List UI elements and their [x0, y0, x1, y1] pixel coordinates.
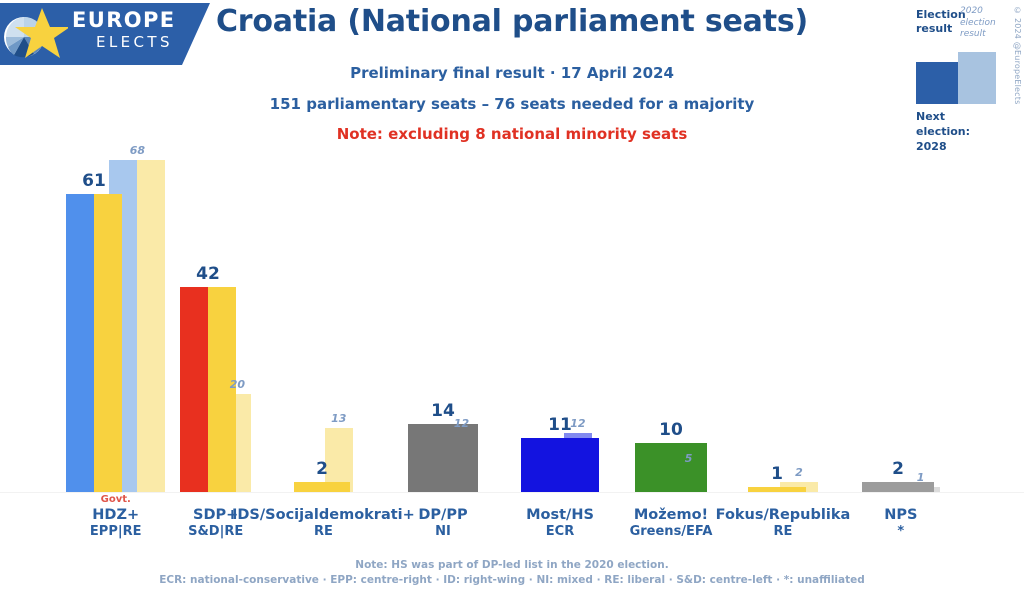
next-election-year: 2028	[916, 140, 947, 153]
legend-labels: Election result 2020 election result	[916, 6, 996, 52]
bar-chart-plot-area: 68612042132121412115102112	[0, 140, 1024, 492]
next-election-label: Next election:	[916, 110, 970, 138]
legend-current-swatch	[916, 62, 958, 104]
bar-previous-result	[137, 160, 165, 492]
chart-seats-line: 151 parliamentary seats – 76 seats neede…	[0, 95, 1024, 113]
brand-wordmark: EUROPE ELECTS	[72, 10, 176, 50]
copyright-notice: © 2024 @EuropeElects	[1013, 6, 1022, 104]
bar-value-label-current: 2	[862, 459, 934, 479]
bar-current-result	[521, 438, 599, 492]
bar-value-label-current: 42	[180, 264, 236, 284]
x-axis-labels: Govt.HDZ+EPP|RE SDP+S&D|RE IDS/Socijalde…	[0, 494, 1024, 556]
bar-current-result	[408, 424, 478, 492]
bar-value-label-current: 1	[748, 464, 806, 484]
bar-value-label-current: 10	[635, 420, 707, 440]
chart-legend: Election result 2020 election result Nex…	[916, 6, 996, 155]
bar-value-label-previous: 13	[325, 412, 353, 425]
brand-line-1: EUROPE	[72, 10, 176, 31]
bar-current-result	[635, 443, 707, 492]
bar-value-label-current: 61	[66, 171, 122, 191]
bar-current-result	[180, 287, 208, 492]
legend-swatches	[916, 52, 996, 104]
bar-group	[862, 140, 1024, 492]
legend-current-label: Election result	[916, 8, 960, 36]
party-eu-group: *	[781, 524, 1021, 541]
bar-value-label-previous: 68	[109, 144, 165, 157]
x-axis-label-8: NPS*	[781, 494, 1021, 541]
bar-value-label-previous: 5	[675, 452, 703, 465]
bar-value-label-current: 2	[294, 459, 350, 479]
legend-previous-swatch	[958, 52, 996, 104]
bar-current-result	[294, 482, 350, 492]
bar-value-label-previous: 20	[223, 378, 251, 391]
bar-value-label-current: 11	[521, 415, 599, 435]
bar-current-result	[66, 194, 94, 492]
bar-value-label-current: 14	[408, 401, 478, 421]
chart-footnotes: Note: HS was part of DP-led list in the …	[0, 558, 1024, 588]
next-election-info: Next election: 2028	[916, 110, 996, 155]
brand-line-2: ELECTS	[96, 35, 176, 50]
party-name: NPS	[781, 506, 1021, 524]
europe-elects-star-logo-icon	[2, 6, 68, 64]
chart-baseline	[0, 492, 1024, 493]
footnote-hs: Note: HS was part of DP-led list in the …	[0, 558, 1024, 573]
legend-previous-label: 2020 election result	[960, 6, 998, 41]
govt-marker-placeholder	[781, 494, 1021, 505]
chart-subtitle: Preliminary final result · 17 April 2024	[0, 64, 1024, 82]
footnote-group-key: ECR: national-conservative · EPP: centre…	[0, 573, 1024, 588]
bar-current-result	[94, 194, 122, 492]
